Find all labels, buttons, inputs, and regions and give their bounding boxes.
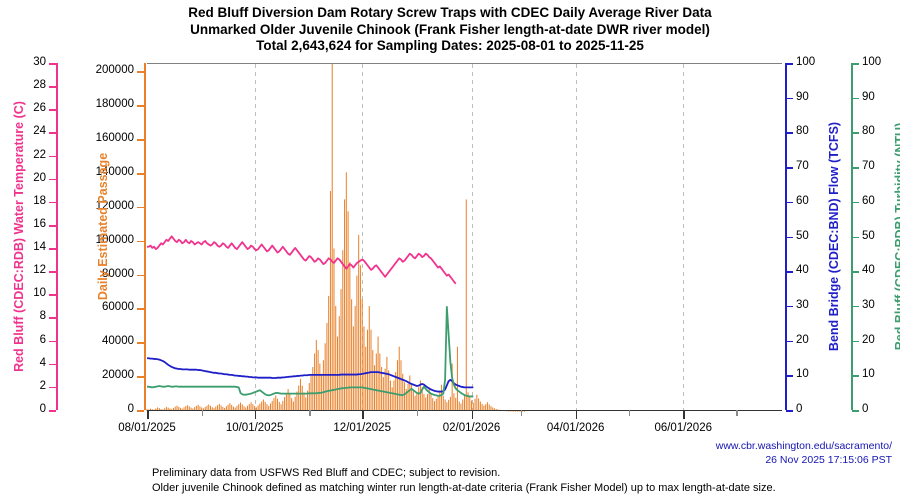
axis-tick-label-turbidity: 10 (862, 369, 875, 381)
axis-tick-passage (137, 105, 144, 107)
footer-source: www.cbr.washington.edu/sacramento/ 26 No… (716, 440, 892, 467)
source-url[interactable]: www.cbr.washington.edu/sacramento/ (716, 440, 892, 454)
axis-tick-flow (786, 202, 793, 204)
axis-tick-label-turbidity: 60 (862, 196, 875, 208)
axis-tick-flow (786, 410, 793, 412)
axis-tick-label-flow: 10 (796, 369, 809, 381)
axis-tick-temperature (49, 317, 56, 319)
axis-tick-label-flow: 50 (796, 231, 809, 243)
axis-tick-flow (786, 375, 793, 377)
x-tick-06/01/2026 (683, 410, 685, 419)
axis-tick-passage (137, 173, 144, 175)
axis-tick-turbidity (852, 237, 859, 239)
axis-tick-temperature (49, 179, 56, 181)
x-minor-tick (309, 410, 311, 416)
axis-tick-temperature (49, 248, 56, 250)
x-tick-08/01/2025 (147, 410, 149, 419)
axis-tick-turbidity (852, 271, 859, 273)
axis-tick-label-turbidity: 70 (862, 161, 875, 173)
axis-tick-turbidity (852, 375, 859, 377)
axis-tick-flow (786, 63, 793, 65)
axis-tick-label-passage: 180000 (0, 99, 134, 111)
axis-tick-label-turbidity: 40 (862, 265, 875, 277)
axis-tick-temperature (49, 156, 56, 158)
series-layer (147, 64, 782, 411)
axis-tick-label-turbidity: 20 (862, 335, 875, 347)
axis-tick-label-flow: 100 (796, 57, 815, 69)
line-series-temperature (147, 236, 456, 283)
axis-tick-temperature (49, 63, 56, 65)
axis-tick-turbidity (852, 167, 859, 169)
axis-tick-passage (137, 241, 144, 243)
x-axis-line (147, 410, 782, 412)
chart-page: Red Bluff Diversion Dam Rotary Screw Tra… (0, 0, 900, 500)
axis-tick-label-flow: 40 (796, 265, 809, 277)
axis-tick-label-passage: 100000 (0, 235, 134, 247)
axis-tick-flow (786, 271, 793, 273)
axis-tick-label-passage: 160000 (0, 133, 134, 145)
generated-timestamp: 26 Nov 2025 17:15:06 PST (716, 454, 892, 468)
axis-tick-label-turbidity: 100 (862, 57, 881, 69)
axis-tick-label-passage: 60000 (0, 302, 134, 314)
axis-tick-temperature (49, 364, 56, 366)
axis-tick-label-flow: 60 (796, 196, 809, 208)
axis-tick-label-flow: 0 (796, 404, 802, 416)
x-tick-12/01/2025 (362, 410, 364, 419)
axis-title-turbidity: Red Bluff (CDEC:RDB) Turbidity (NTU) (893, 63, 900, 410)
axis-tick-label-flow: 90 (796, 92, 809, 104)
axis-tick-temperature (49, 294, 56, 296)
axis-tick-label-passage: 40000 (0, 336, 134, 348)
axis-tick-flow (786, 167, 793, 169)
axis-tick-passage (137, 139, 144, 141)
title-line-1: Red Bluff Diversion Dam Rotary Screw Tra… (0, 5, 900, 22)
axis-tick-label-turbidity: 90 (862, 92, 875, 104)
axis-tick-temperature (49, 387, 56, 389)
x-minor-tick (202, 410, 204, 416)
axis-tick-flow (786, 98, 793, 100)
axis-tick-passage (137, 71, 144, 73)
x-minor-tick (736, 410, 738, 416)
axis-tick-temperature (49, 86, 56, 88)
axis-tick-label-flow: 80 (796, 126, 809, 138)
axis-tick-label-passage: 20000 (0, 370, 134, 382)
x-axis-label: 04/01/2026 (547, 422, 605, 434)
axis-tick-label-turbidity: 30 (862, 300, 875, 312)
axis-title-passage: Daily Estimated Passage (96, 83, 110, 370)
axis-tick-passage (137, 342, 144, 344)
chart-title-block: Red Bluff Diversion Dam Rotary Screw Tra… (0, 5, 900, 55)
axis-tick-flow (786, 237, 793, 239)
x-axis-label: 02/01/2026 (443, 422, 501, 434)
axis-tick-turbidity (852, 306, 859, 308)
axis-tick-passage (137, 308, 144, 310)
axis-tick-turbidity (852, 63, 859, 65)
x-minor-tick (629, 410, 631, 416)
x-minor-tick (521, 410, 523, 416)
axis-spine-passage (144, 63, 146, 410)
x-axis-label: 08/01/2025 (118, 422, 176, 434)
footer-note-2: Older juvenile Chinook defined as matchi… (152, 481, 776, 496)
axis-tick-label-passage: 120000 (0, 201, 134, 213)
axis-tick-label-turbidity: 50 (862, 231, 875, 243)
axis-tick-label-passage: 0 (0, 404, 134, 416)
line-series-turbidity (147, 307, 473, 397)
axis-tick-label-passage: 200000 (0, 65, 134, 77)
axis-tick-passage (137, 275, 144, 277)
axis-tick-turbidity (852, 341, 859, 343)
title-line-2: Unmarked Older Juvenile Chinook (Frank F… (0, 22, 900, 39)
axis-title-flow: Bend Bridge (CDEC:BND) Flow (TCFS) (827, 63, 841, 410)
axis-tick-label-turbidity: 80 (862, 126, 875, 138)
axis-tick-turbidity (852, 202, 859, 204)
x-tick-02/01/2026 (472, 410, 474, 419)
axis-tick-passage (137, 410, 144, 412)
x-tick-04/01/2026 (576, 410, 578, 419)
axis-tick-temperature (49, 225, 56, 227)
axis-tick-flow (786, 132, 793, 134)
axis-tick-passage (137, 207, 144, 209)
axis-tick-passage (137, 376, 144, 378)
axis-tick-label-passage: 140000 (0, 167, 134, 179)
axis-tick-label-passage: 80000 (0, 269, 134, 281)
axis-tick-turbidity (852, 410, 859, 412)
axis-tick-label-flow: 20 (796, 335, 809, 347)
axis-tick-flow (786, 306, 793, 308)
axis-tick-flow (786, 341, 793, 343)
x-tick-10/01/2025 (255, 410, 257, 419)
x-minor-tick (417, 410, 419, 416)
bar-series-passage (146, 64, 524, 412)
axis-tick-label-flow: 70 (796, 161, 809, 173)
footer-note-1: Preliminary data from USFWS Red Bluff an… (152, 466, 776, 481)
axis-tick-label-turbidity: 0 (862, 404, 868, 416)
axis-tick-label-flow: 30 (796, 300, 809, 312)
x-axis-label: 10/01/2025 (226, 422, 284, 434)
axis-tick-turbidity (852, 98, 859, 100)
title-line-3: Total 2,643,624 for Sampling Dates: 2025… (0, 38, 900, 55)
footer-notes: Preliminary data from USFWS Red Bluff an… (152, 466, 776, 495)
axis-tick-turbidity (852, 132, 859, 134)
plot-area (147, 63, 782, 410)
x-axis-label: 06/01/2026 (654, 422, 712, 434)
x-axis-label: 12/01/2025 (333, 422, 391, 434)
